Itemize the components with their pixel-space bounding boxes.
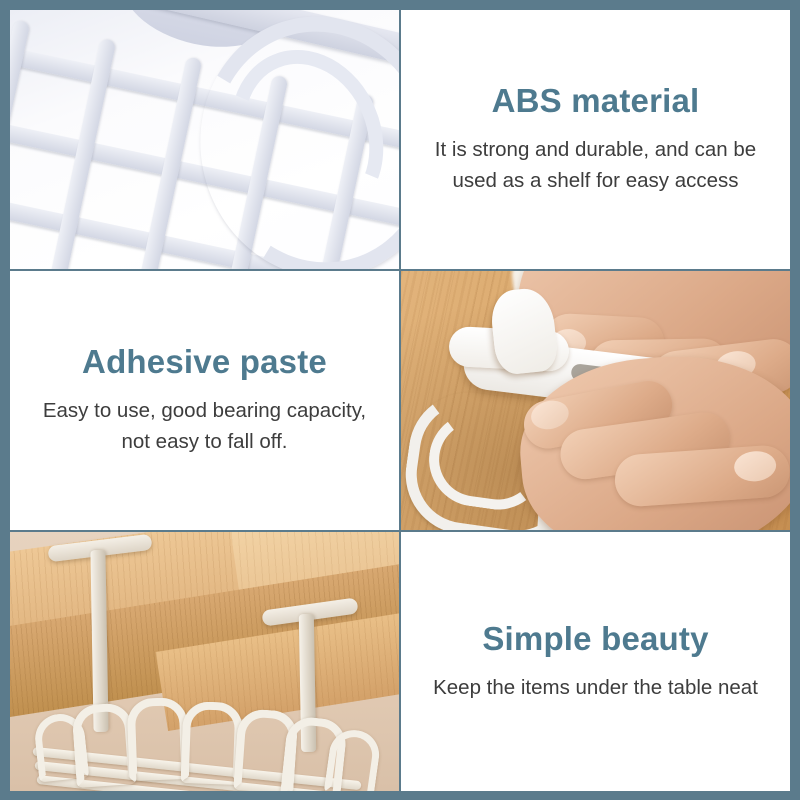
text-panel-abs-material: ABS material It is strong and durable, a… xyxy=(401,10,790,269)
photo-rack-closeup xyxy=(10,10,399,269)
panel-title-abs-material: ABS material xyxy=(492,82,700,120)
photo-hands-adhesive xyxy=(401,271,790,530)
panel-body-abs-material: It is strong and durable, and can be use… xyxy=(421,134,771,198)
panel-grid: ABS material It is strong and durable, a… xyxy=(10,10,790,790)
rack-assembly xyxy=(32,720,362,791)
panel-body-adhesive-paste: Easy to use, good bearing capacity, not … xyxy=(30,395,380,459)
product-infographic: ABS material It is strong and durable, a… xyxy=(0,0,800,800)
panel-body-simple-beauty: Keep the items under the table neat xyxy=(433,672,758,704)
photo-under-desk-rack xyxy=(10,532,399,791)
panel-title-adhesive-paste: Adhesive paste xyxy=(82,343,327,381)
text-panel-simple-beauty: Simple beauty Keep the items under the t… xyxy=(401,532,790,791)
panel-title-simple-beauty: Simple beauty xyxy=(482,620,708,658)
text-panel-adhesive-paste: Adhesive paste Easy to use, good bearing… xyxy=(10,271,399,530)
